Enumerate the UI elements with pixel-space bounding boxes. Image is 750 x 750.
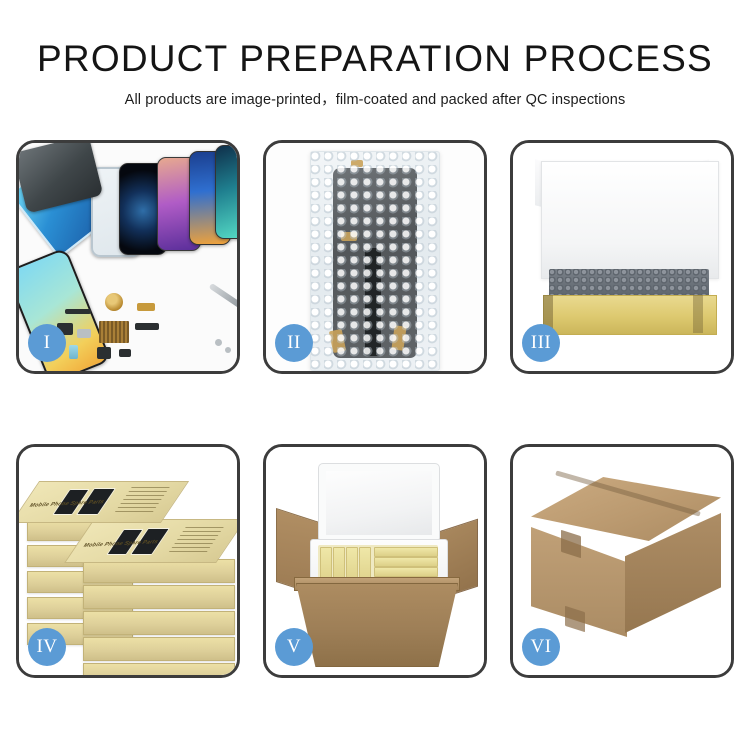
box-white-lid <box>541 161 719 279</box>
step-panel-1[interactable]: I <box>16 140 240 374</box>
earpiece-mesh-part <box>119 349 131 357</box>
bubble-wrap-bag <box>310 151 440 371</box>
chip-array-part <box>99 321 129 343</box>
flex-connector-part <box>137 303 155 311</box>
flex-cable-part <box>135 323 159 330</box>
styrofoam-lid <box>318 463 440 543</box>
yellow-box-7 <box>374 567 438 577</box>
vibrator-part <box>97 347 111 359</box>
step-badge-2: II <box>275 324 313 362</box>
box-front-panel <box>543 295 717 335</box>
tape-tab-mid <box>341 232 357 241</box>
step-badge-5: V <box>275 628 313 666</box>
screw-part-2 <box>225 347 231 353</box>
step-badge-6: VI <box>522 628 560 666</box>
stack-box-front-1 <box>83 663 235 675</box>
yellow-box-6 <box>374 557 438 567</box>
step-panel-6[interactable]: VI <box>510 444 734 678</box>
stack-box-front-4 <box>83 585 235 609</box>
stack-box-front-3 <box>83 611 235 635</box>
screw-part <box>215 339 222 346</box>
sim-tray-part <box>69 345 78 359</box>
step-badge-1: I <box>28 324 66 362</box>
step-badge-3: III <box>522 324 560 362</box>
step-badge-4: IV <box>28 628 66 666</box>
process-steps-grid: I II <box>16 140 734 680</box>
wrapped-flex-cable <box>365 248 381 356</box>
page-subtitle: All products are image-printed，film-coat… <box>0 80 750 109</box>
tape-tab-top <box>351 160 363 167</box>
carton-body <box>296 583 458 667</box>
page-title: PRODUCT PREPARATION PROCESS <box>0 0 750 80</box>
phone-teal <box>215 145 237 239</box>
yellow-box-5 <box>374 547 438 557</box>
battery-connector-part <box>77 329 91 338</box>
speaker-part <box>105 293 123 311</box>
box-corner-right <box>693 295 703 333</box>
step-panel-5[interactable]: V <box>263 444 487 678</box>
step-panel-2[interactable]: II <box>263 140 487 374</box>
antenna-strip-part <box>65 309 91 314</box>
page-header: PRODUCT PREPARATION PROCESS All products… <box>0 0 750 120</box>
step-panel-4[interactable]: Mobile Phone Spare Parts Mobile Phone Sp… <box>16 444 240 678</box>
stack-box-front-2 <box>83 637 235 661</box>
step-panel-3[interactable]: III <box>510 140 734 374</box>
